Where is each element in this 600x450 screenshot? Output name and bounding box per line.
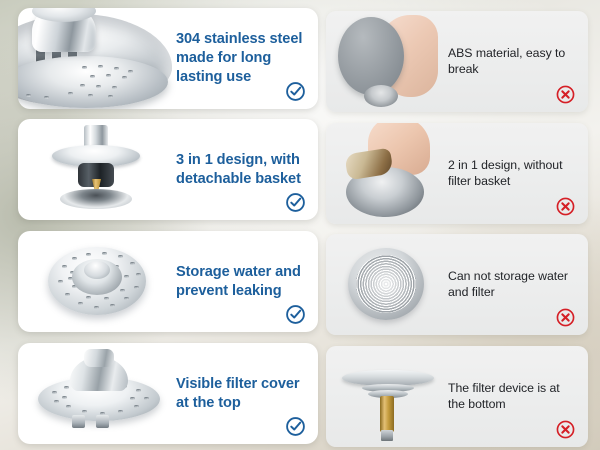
strainer-foot [96, 415, 109, 428]
benefit-headline-4: Visible filter cover at the top [176, 375, 318, 412]
strainer-rim [18, 56, 168, 108]
hand-lifting-clogged-drain-image [326, 123, 448, 224]
benefit-card-2: 3 in 1 design, with detachable basket [18, 119, 318, 220]
benefit-headline-3: Storage water and prevent leaking [176, 263, 318, 300]
flat-mesh-filter-plate-image [326, 234, 448, 335]
benefit-card-3: Storage water and prevent leaking [18, 231, 318, 332]
drawback-headline-2: 2 in 1 design, without filter basket [448, 158, 588, 189]
exploded-three-part-assembly-image [18, 119, 176, 220]
benefit-headline-2: 3 in 1 design, with detachable basket [176, 151, 318, 188]
stem-tip-shape [381, 430, 393, 441]
drawback-card-4: The filter device is at the bottom [326, 346, 588, 447]
perforated-strainer-top-view-image [18, 231, 176, 332]
check-circle-icon [285, 304, 306, 325]
benefit-card-4: Visible filter cover at the top [18, 343, 318, 444]
comparison-infographic: 304 stainless steel made for long lastin… [0, 0, 600, 450]
check-circle-icon [285, 416, 306, 437]
check-circle-icon [285, 81, 306, 102]
perforation-group [18, 56, 168, 108]
abs-plastic-disc-in-hand-image [326, 11, 448, 112]
strainer-foot [72, 415, 85, 428]
check-circle-icon [285, 192, 306, 213]
drain-hole-shape [364, 85, 398, 107]
x-circle-icon [555, 84, 576, 105]
strainer-with-dome-cover-image [18, 343, 176, 444]
filter-mesh-pattern [356, 255, 416, 313]
drawback-headline-1: ABS material, easy to break [448, 46, 588, 77]
base-ring-part [60, 189, 132, 209]
popup-plug-brass-stem-image [326, 346, 448, 447]
stainless-steel-strainer-closeup-image [18, 8, 176, 109]
dome-knob-shape [84, 349, 114, 367]
benefit-card-1: 304 stainless steel made for long lastin… [18, 8, 318, 109]
x-circle-icon [555, 419, 576, 440]
x-circle-icon [555, 307, 576, 328]
drawback-card-1: ABS material, easy to break [326, 11, 588, 112]
drawback-headline-3: Can not storage water and filter [448, 269, 588, 300]
brass-stem-shape [380, 396, 394, 432]
drawback-card-2: 2 in 1 design, without filter basket [326, 123, 588, 224]
drawback-headline-4: The filter device is at the bottom [448, 381, 588, 412]
plastic-disc-shape [338, 17, 404, 95]
x-circle-icon [555, 196, 576, 217]
benefit-headline-1: 304 stainless steel made for long lastin… [176, 30, 318, 86]
strainer-center-cap [84, 261, 110, 279]
drawback-card-3: Can not storage water and filter [326, 234, 588, 335]
